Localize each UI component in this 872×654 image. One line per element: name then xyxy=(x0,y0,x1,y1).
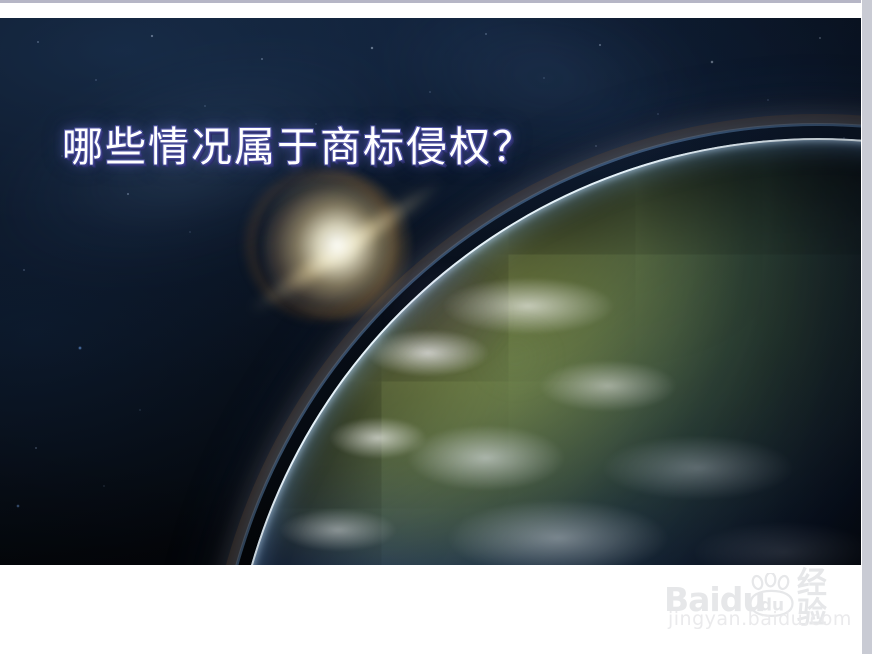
slide-title: 哪些情况属于商标侵权？ xyxy=(62,126,535,169)
lens-flare-ghost-secondary xyxy=(470,318,562,396)
right-scroll-rail[interactable] xyxy=(861,0,872,654)
slide-image: 哪些情况属于商标侵权？ xyxy=(0,18,861,565)
watermark-url: jingyan.baidu.com xyxy=(668,608,852,630)
baidu-jingyan-watermark: Baidu du 经验 jingyan.baidu.com xyxy=(664,563,854,637)
screenshot-root: 哪些情况属于商标侵权？ Baidu du 经验 jingyan.baidu.co… xyxy=(0,0,872,654)
sun-flare-core xyxy=(262,170,412,320)
top-white-margin xyxy=(0,3,862,18)
